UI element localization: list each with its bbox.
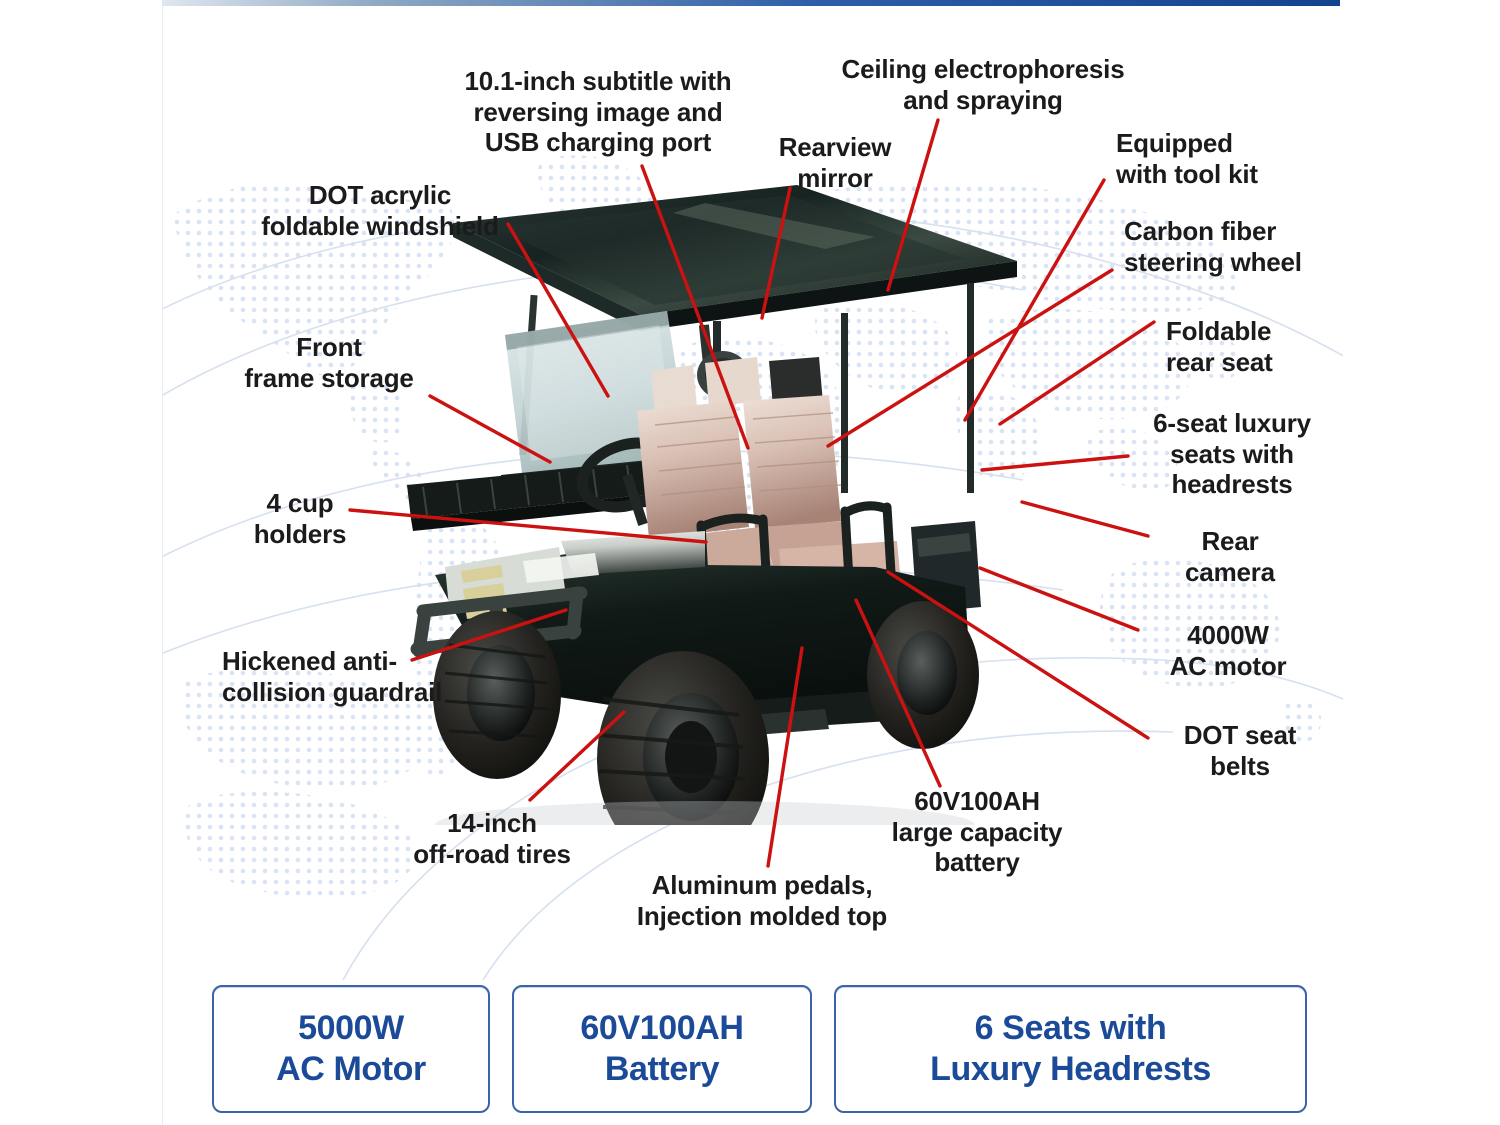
- callout-windshield: DOT acrylic foldable windshield: [240, 180, 520, 241]
- callout-front-storage: Front frame storage: [218, 332, 440, 393]
- callout-foldable-rear-seat: Foldable rear seat: [1166, 316, 1366, 377]
- spec-card-battery[interactable]: 60V100AH Battery: [512, 985, 812, 1113]
- callout-rear-camera: Rear camera: [1150, 526, 1310, 587]
- callout-ac-motor: 4000W AC motor: [1132, 620, 1324, 681]
- callout-tool-kit: Equipped with tool kit: [1116, 128, 1346, 189]
- callout-steering-wheel: Carbon fiber steering wheel: [1124, 216, 1354, 277]
- spec-seats-label: 6 Seats with Luxury Headrests: [930, 1008, 1211, 1091]
- callout-guardrail: Hickened anti- collision guardrail: [222, 646, 518, 707]
- accent-bar: [162, 0, 1340, 6]
- callout-subtitle-screen: 10.1-inch subtitle with reversing image …: [448, 66, 748, 158]
- spec-motor-label: 5000W AC Motor: [276, 1008, 426, 1091]
- callout-luxury-seats: 6-seat luxury seats with headrests: [1126, 408, 1338, 500]
- callout-tires: 14-inch off-road tires: [382, 808, 602, 869]
- callout-rearview-mirror: Rearview mirror: [740, 132, 930, 193]
- spec-highlight-row: 5000W AC Motor 60V100AH Battery 6 Seats …: [212, 985, 1307, 1113]
- callout-cup-holders: 4 cup holders: [212, 488, 388, 549]
- frame-divider: [162, 6, 163, 1125]
- callout-seat-belts: DOT seat belts: [1152, 720, 1328, 781]
- callout-pedals-top: Aluminum pedals, Injection molded top: [612, 870, 912, 931]
- spec-battery-label: 60V100AH Battery: [580, 1008, 743, 1091]
- spec-card-motor[interactable]: 5000W AC Motor: [212, 985, 490, 1113]
- product-feature-slide: 10.1-inch subtitle with reversing image …: [0, 0, 1500, 1125]
- golf-cart-product-photo: [405, 175, 1045, 825]
- spec-card-seats[interactable]: 6 Seats with Luxury Headrests: [834, 985, 1307, 1113]
- callout-battery: 60V100AH large capacity battery: [866, 786, 1088, 878]
- callout-ceiling-coating: Ceiling electrophoresis and spraying: [822, 54, 1144, 115]
